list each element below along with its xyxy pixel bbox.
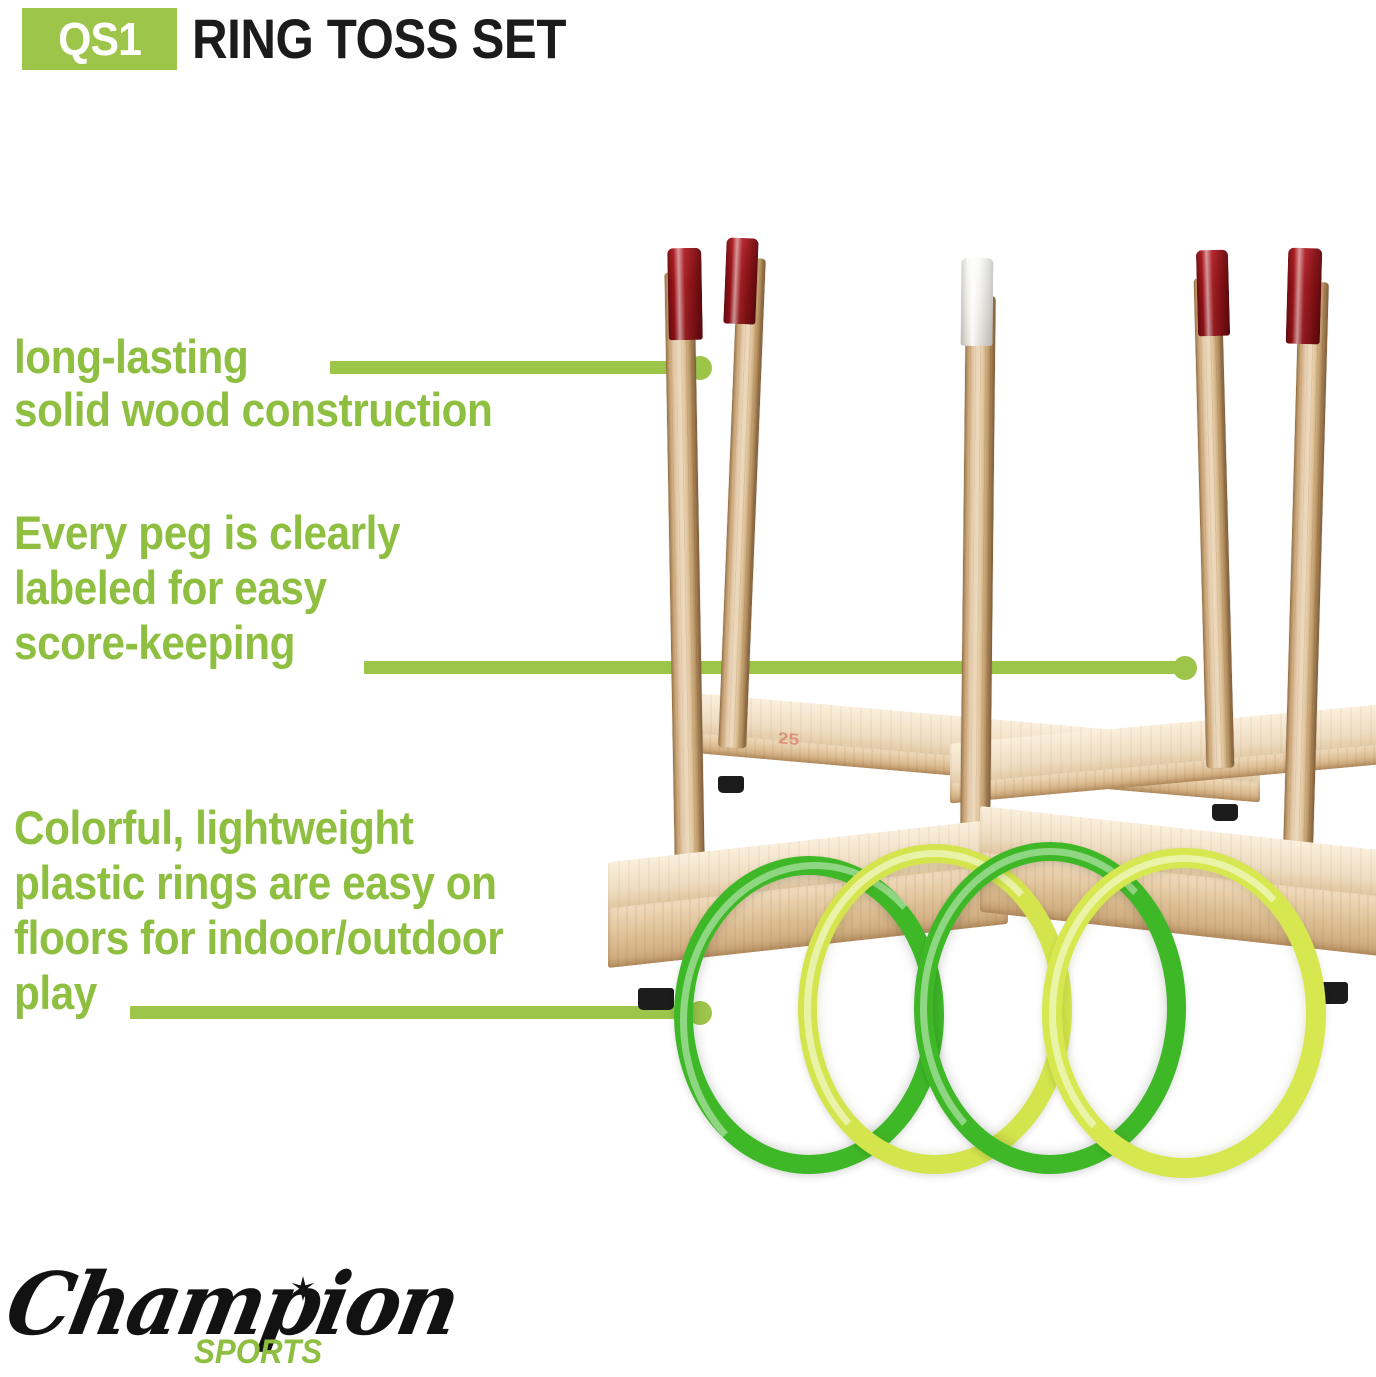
stand-score-mark-rear: 25: [778, 730, 799, 748]
page-title: RING TOSS SET: [192, 11, 566, 67]
peg-2: [718, 258, 766, 749]
feature-line: plastic rings are easy on: [14, 855, 503, 910]
feature-line: floors for indoor/outdoor: [14, 910, 503, 965]
header: QS1 RING TOSS SET: [0, 0, 1376, 100]
feature-line: long-lasting: [14, 330, 492, 383]
feature-line: solid wood construction: [14, 383, 492, 436]
feature-callout-labeled-pegs: Every peg is clearly labeled for easy sc…: [14, 505, 443, 670]
peg-1-tip-red: [667, 248, 703, 341]
peg-5: [1281, 282, 1329, 923]
peg-4-tip-red: [1196, 250, 1230, 337]
stand-foot-front-left: [638, 988, 674, 1010]
sku-badge: QS1: [22, 8, 177, 70]
feature-line: score-keeping: [14, 615, 400, 670]
leader-line-plastic-rings: [130, 1006, 702, 1019]
brand-logo: Champion SPORTS: [12, 1248, 372, 1370]
plastic-rings-image: [670, 828, 1330, 1190]
brand-sub: SPORTS: [194, 1333, 322, 1372]
ring-toss-stand-image: 25: [560, 230, 1376, 790]
peg-2-tip-red: [723, 237, 758, 324]
stand-foot-rear-right: [1212, 804, 1238, 821]
feature-line: labeled for easy: [14, 560, 400, 615]
sku-badge-label: QS1: [58, 16, 141, 62]
feature-line: Colorful, lightweight: [14, 800, 503, 855]
peg-4: [1194, 278, 1235, 769]
peg-3: [960, 296, 996, 826]
feature-line: Every peg is clearly: [14, 505, 400, 560]
peg-1: [664, 272, 705, 912]
feature-callout-long-lasting: long-lasting solid wood construction: [14, 330, 546, 436]
stand-foot-rear-left: [718, 776, 744, 793]
feature-callout-plastic-rings: Colorful, lightweight plastic rings are …: [14, 800, 558, 1020]
peg-3-tip-white: [961, 258, 994, 346]
peg-5-tip-red: [1286, 248, 1323, 345]
infographic-canvas: QS1 RING TOSS SET long-lasting solid woo…: [0, 0, 1376, 1377]
star-icon: [290, 1276, 316, 1302]
plastic-ring-4: [1042, 848, 1326, 1178]
